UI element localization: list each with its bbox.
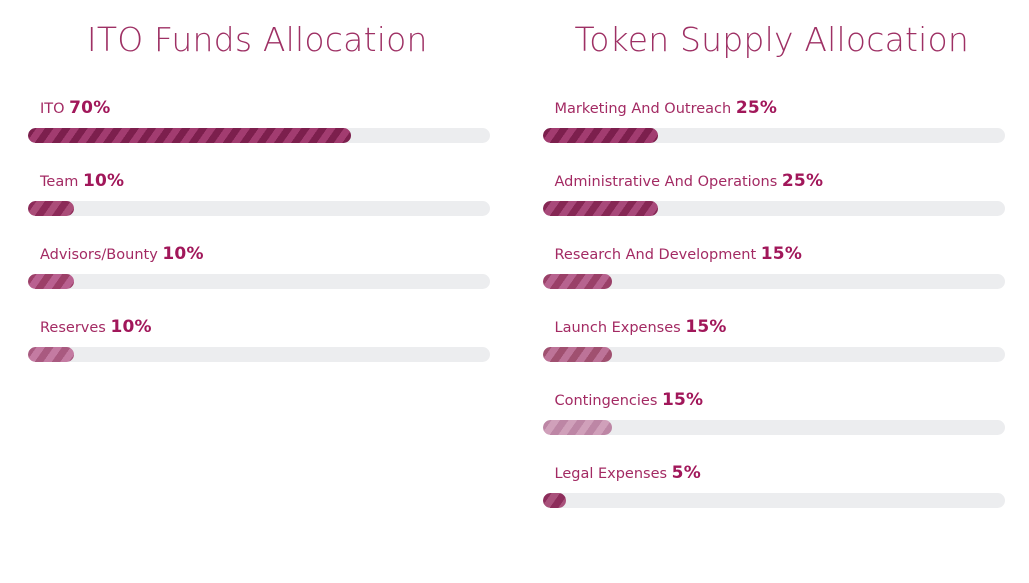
allocation-row: Reserves 10%	[28, 318, 491, 391]
allocation-percent: 15%	[662, 390, 703, 410]
allocation-row: Advisors/Bounty 10%	[28, 245, 491, 318]
progress-fill	[543, 128, 659, 143]
column-ito-funds: ITO Funds Allocation ITO 70% Team 10% Ad…	[0, 0, 515, 583]
allocation-percent: 10%	[110, 317, 151, 337]
bar-list-ito-funds: ITO 70% Team 10% Advisors/Bounty 10% Res…	[0, 99, 515, 391]
allocation-label: Administrative And Operations 25%	[543, 172, 1006, 191]
allocation-label-text: Advisors/Bounty	[40, 247, 158, 263]
progress-track	[543, 201, 1005, 216]
progress-fill	[28, 201, 74, 216]
allocation-label-text: Contingencies	[555, 393, 658, 409]
progress-track	[543, 347, 1005, 362]
allocation-percent: 5%	[672, 463, 701, 483]
allocation-percent: 10%	[162, 244, 203, 264]
allocation-label-text: Marketing And Outreach	[555, 101, 732, 117]
allocation-label-text: Legal Expenses	[555, 466, 668, 482]
allocation-label-text: ITO	[40, 101, 65, 117]
allocation-row: Contingencies 15%	[543, 391, 1006, 464]
progress-fill	[543, 420, 612, 435]
progress-fill	[543, 347, 612, 362]
allocation-label: Legal Expenses 5%	[543, 464, 1006, 483]
progress-fill	[543, 201, 659, 216]
allocation-row: Team 10%	[28, 172, 491, 245]
allocation-label: Contingencies 15%	[543, 391, 1006, 410]
progress-track	[28, 128, 490, 143]
allocation-percent: 70%	[69, 98, 110, 118]
allocation-row: Marketing And Outreach 25%	[543, 99, 1006, 172]
allocation-label-text: Launch Expenses	[555, 320, 681, 336]
progress-track	[28, 274, 490, 289]
allocation-row: Legal Expenses 5%	[543, 464, 1006, 537]
allocation-row: Research And Development 15%	[543, 245, 1006, 318]
progress-track	[543, 128, 1005, 143]
progress-fill	[28, 347, 74, 362]
allocation-percent: 25%	[736, 98, 777, 118]
progress-fill	[543, 493, 566, 508]
allocation-label: Team 10%	[28, 172, 491, 191]
progress-fill	[28, 274, 74, 289]
allocation-label: ITO 70%	[28, 99, 491, 118]
allocation-label-text: Team	[40, 174, 78, 190]
allocation-label-text: Research And Development	[555, 247, 757, 263]
allocation-label-text: Administrative And Operations	[555, 174, 778, 190]
allocation-label: Advisors/Bounty 10%	[28, 245, 491, 264]
progress-track	[28, 347, 490, 362]
allocation-label: Reserves 10%	[28, 318, 491, 337]
bar-list-token-supply: Marketing And Outreach 25% Administrativ…	[515, 99, 1029, 537]
progress-track	[543, 274, 1005, 289]
progress-fill	[28, 128, 351, 143]
allocation-label: Research And Development 15%	[543, 245, 1006, 264]
progress-track	[543, 420, 1005, 435]
allocation-percent: 10%	[83, 171, 124, 191]
allocation-row: ITO 70%	[28, 99, 491, 172]
progress-track	[28, 201, 490, 216]
allocation-row: Launch Expenses 15%	[543, 318, 1006, 391]
allocation-row: Administrative And Operations 25%	[543, 172, 1006, 245]
progress-fill	[543, 274, 612, 289]
column-token-supply: Token Supply Allocation Marketing And Ou…	[515, 0, 1029, 583]
page-title-ito-funds: ITO Funds Allocation	[0, 18, 515, 62]
allocation-label-text: Reserves	[40, 320, 106, 336]
progress-track	[543, 493, 1005, 508]
page-title-token-supply: Token Supply Allocation	[515, 18, 1029, 62]
allocation-label: Marketing And Outreach 25%	[543, 99, 1006, 118]
allocation-page: ITO Funds Allocation ITO 70% Team 10% Ad…	[0, 0, 1029, 583]
allocation-label: Launch Expenses 15%	[543, 318, 1006, 337]
allocation-percent: 15%	[685, 317, 726, 337]
allocation-percent: 25%	[782, 171, 823, 191]
allocation-percent: 15%	[761, 244, 802, 264]
